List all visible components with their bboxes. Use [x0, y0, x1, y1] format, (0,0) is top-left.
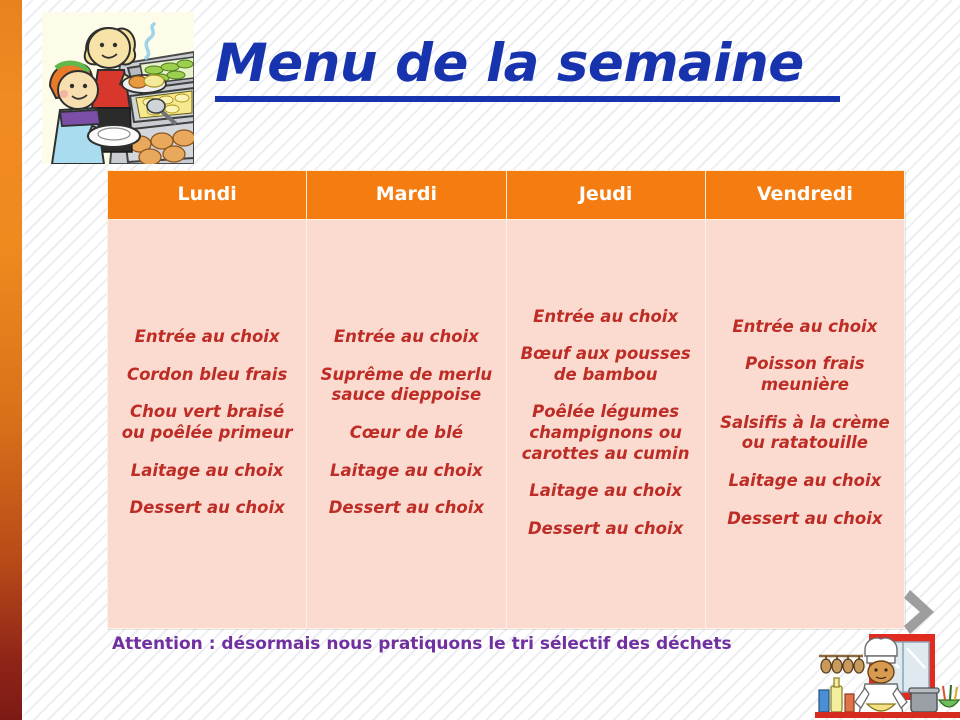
dish-item: Dessert au choix: [118, 498, 296, 519]
column-header-jeudi: Jeudi: [506, 171, 705, 220]
dish-list-jeudi: Entrée au choix Bœuf aux pousses de bamb…: [517, 307, 695, 540]
menu-cell-jeudi: Entrée au choix Bœuf aux pousses de bamb…: [506, 220, 705, 629]
dish-item: Laitage au choix: [517, 481, 695, 502]
left-accent-bar-highlight: [22, 0, 25, 720]
dish-item: Laitage au choix: [317, 461, 495, 482]
dish-list-mardi: Entrée au choix Suprême de merlu sauce d…: [317, 327, 495, 519]
dish-item: Dessert au choix: [716, 509, 894, 530]
chef-kitchen-clipart: [815, 628, 960, 720]
dish-item: Entrée au choix: [517, 307, 695, 328]
page-title-wrapper: Menu de la semaine: [215, 36, 855, 102]
cafeteria-children-clipart: [42, 12, 194, 164]
dish-item: Entrée au choix: [317, 327, 495, 348]
slide-canvas: Menu de la semaine Lundi Mardi Jeudi Ven…: [0, 0, 960, 720]
left-accent-bar: [0, 0, 22, 720]
title-underline: [215, 96, 840, 102]
dish-item: Suprême de merlu sauce dieppoise: [317, 365, 495, 406]
dish-item: Cordon bleu frais: [118, 365, 296, 386]
dish-item: Laitage au choix: [716, 471, 894, 492]
footer-note: Attention : désormais nous pratiquons le…: [112, 634, 732, 654]
column-header-vendredi: Vendredi: [705, 171, 904, 220]
column-header-mardi: Mardi: [307, 171, 506, 220]
dish-item: Dessert au choix: [517, 519, 695, 540]
page-title: Menu de la semaine: [215, 36, 855, 92]
dish-item: Entrée au choix: [716, 317, 894, 338]
dish-item: Entrée au choix: [118, 327, 296, 348]
weekly-menu-table: Lundi Mardi Jeudi Vendredi Entrée au cho…: [107, 170, 905, 629]
dish-item: Dessert au choix: [317, 498, 495, 519]
table-header-row: Lundi Mardi Jeudi Vendredi: [108, 171, 905, 220]
menu-cell-mardi: Entrée au choix Suprême de merlu sauce d…: [307, 220, 506, 629]
dish-item: Chou vert braisé ou poêlée primeur: [118, 402, 296, 443]
dish-item: Poêlée légumes champignons ou carottes a…: [517, 402, 695, 464]
table-row: Entrée au choix Cordon bleu frais Chou v…: [108, 220, 905, 629]
dish-item: Laitage au choix: [118, 461, 296, 482]
dish-item: Salsifis à la crème ou ratatouille: [716, 413, 894, 454]
dish-item: Cœur de blé: [317, 423, 495, 444]
menu-cell-vendredi: Entrée au choix Poisson frais meunière S…: [705, 220, 904, 629]
dish-item: Poisson frais meunière: [716, 354, 894, 395]
dish-item: Bœuf aux pousses de bambou: [517, 344, 695, 385]
menu-cell-lundi: Entrée au choix Cordon bleu frais Chou v…: [108, 220, 307, 629]
dish-list-vendredi: Entrée au choix Poisson frais meunière S…: [716, 317, 894, 529]
column-header-lundi: Lundi: [108, 171, 307, 220]
dish-list-lundi: Entrée au choix Cordon bleu frais Chou v…: [118, 327, 296, 519]
